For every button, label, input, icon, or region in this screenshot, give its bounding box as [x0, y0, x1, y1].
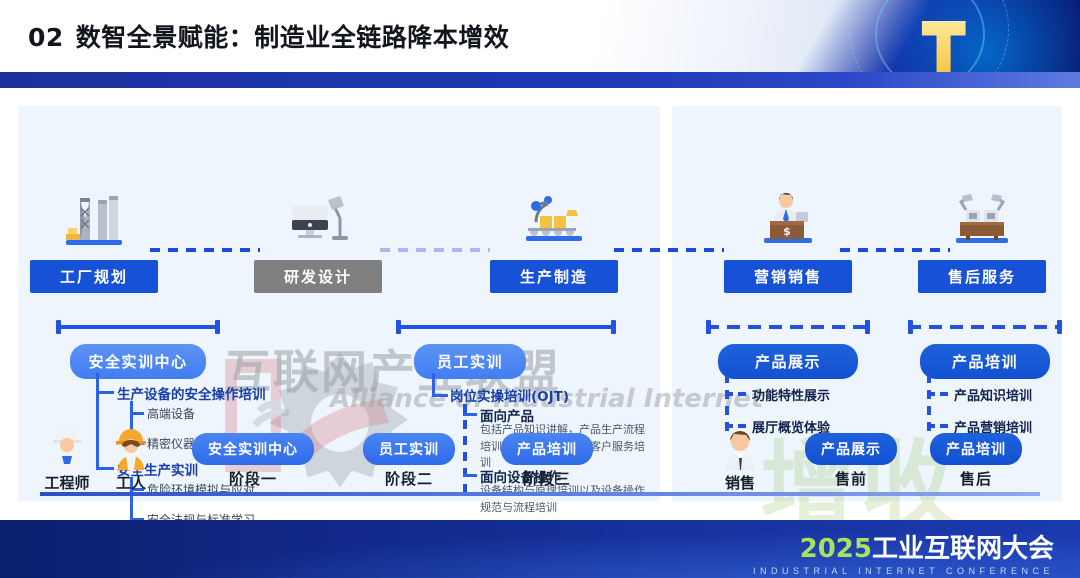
sales-desk-icon: $	[752, 188, 824, 250]
tree-tick	[463, 413, 477, 416]
tree-tick	[927, 392, 949, 396]
phase-pill-product-display[interactable]: 产品展示	[805, 433, 897, 465]
phase-pill-staff-training[interactable]: 员工实训	[363, 433, 455, 465]
phase-pill-safety-center[interactable]: 安全实训中心	[192, 433, 314, 465]
conference-brand: 2025工业互联网大会 INDUSTRIAL INTERNET CONFEREN…	[753, 528, 1054, 576]
tree-tick	[130, 412, 144, 415]
conference-brand-cn: 工业互联网大会	[872, 534, 1054, 564]
header-divider	[0, 72, 1080, 88]
phase-aftersale[interactable]: 产品培训 售后	[920, 433, 1032, 489]
node-ojt-training[interactable]: 岗位实操培训(OJT)	[450, 385, 569, 405]
sales-avatar-icon	[721, 428, 759, 470]
phase-name-presale: 售前	[795, 468, 907, 489]
monitor-lamp-icon	[282, 188, 354, 250]
stage-label-marketing-sales: 营销销售	[724, 260, 852, 293]
phase-name-three: 阶段三	[492, 468, 602, 489]
stage-label-production: 生产制造	[490, 260, 618, 293]
engineer-avatar-icon	[48, 428, 86, 470]
node-feature-display[interactable]: 功能特性展示	[752, 385, 830, 404]
page-title-number: 02	[28, 23, 64, 52]
role-label-worker: 工人	[96, 472, 166, 493]
slide-body: 互联网产业联盟 Alliance of Industrial Internet …	[0, 88, 1080, 520]
role-label-sales: 销售	[705, 472, 775, 493]
phase-one[interactable]: 安全实训中心 阶段一	[185, 433, 321, 489]
tree-tick	[725, 392, 747, 396]
stage-label-rd-design: 研发设计	[254, 260, 382, 293]
conference-brand-year: 2025	[800, 534, 872, 564]
node-safety-equipment-training[interactable]: 生产设备的安全操作培训	[117, 383, 266, 403]
tree-branch-dashed	[463, 404, 467, 498]
tree-tick	[927, 424, 949, 428]
factory-icon	[58, 188, 130, 250]
svg-text:$: $	[783, 225, 791, 238]
tree-tick	[432, 394, 448, 397]
role-engineer[interactable]: 工程师	[32, 428, 102, 493]
role-worker[interactable]: 工人	[96, 428, 166, 493]
bracket-product-display	[706, 320, 870, 334]
phase-pill-product-training-right[interactable]: 产品培训	[930, 433, 1022, 465]
slide-footer: 2025工业互联网大会 INDUSTRIAL INTERNET CONFEREN…	[0, 520, 1080, 578]
group-header-safety-center[interactable]: 安全实训中心	[70, 344, 206, 379]
role-sales[interactable]: 销售	[705, 428, 775, 493]
phase-name-aftersale: 售后	[920, 468, 1032, 489]
stage-label-factory-planning: 工厂规划	[30, 260, 158, 293]
stage-connector-3	[614, 248, 724, 252]
phase-name-one: 阶段一	[185, 468, 321, 489]
bottom-divider	[40, 492, 1040, 496]
conference-brand-subtitle: INDUSTRIAL INTERNET CONFERENCE	[753, 566, 1054, 576]
node-product-knowledge-training[interactable]: 产品知识培训	[954, 385, 1032, 404]
phase-three[interactable]: 产品培训 阶段三	[492, 433, 602, 489]
page-title-text: 数智全景赋能：制造业全链路降本增效	[76, 23, 510, 52]
group-header-product-display[interactable]: 产品展示	[718, 344, 858, 379]
service-desk-icon	[946, 188, 1018, 250]
slide-header: 02数智全景赋能：制造业全链路降本增效	[0, 0, 1080, 88]
worker-avatar-icon	[112, 428, 150, 470]
phase-name-two: 阶段二	[355, 468, 463, 489]
bracket-safety-center	[56, 320, 220, 334]
stage-connector-1	[150, 248, 260, 252]
stage-label-after-sales: 售后服务	[918, 260, 1046, 293]
robot-assembly-icon	[518, 188, 590, 250]
tree-tick	[96, 391, 114, 394]
conference-brand-title: 2025工业互联网大会	[753, 528, 1054, 565]
stage-connector-2	[380, 248, 490, 252]
group-header-product-training[interactable]: 产品培训	[920, 344, 1050, 379]
bracket-product-training	[908, 320, 1062, 334]
node-high-end-equipment[interactable]: 高端设备	[147, 405, 195, 422]
group-header-staff-training[interactable]: 员工实训	[414, 344, 526, 379]
stage-connector-4	[840, 248, 950, 252]
tree-tick	[463, 474, 477, 477]
phase-presale[interactable]: 产品展示 售前	[795, 433, 907, 489]
role-label-engineer: 工程师	[32, 472, 102, 493]
phase-pill-product-training[interactable]: 产品培训	[501, 433, 593, 465]
phase-two[interactable]: 员工实训 阶段二	[355, 433, 463, 489]
page-title: 02数智全景赋能：制造业全链路降本增效	[28, 18, 509, 54]
bracket-staff-training	[396, 320, 616, 334]
